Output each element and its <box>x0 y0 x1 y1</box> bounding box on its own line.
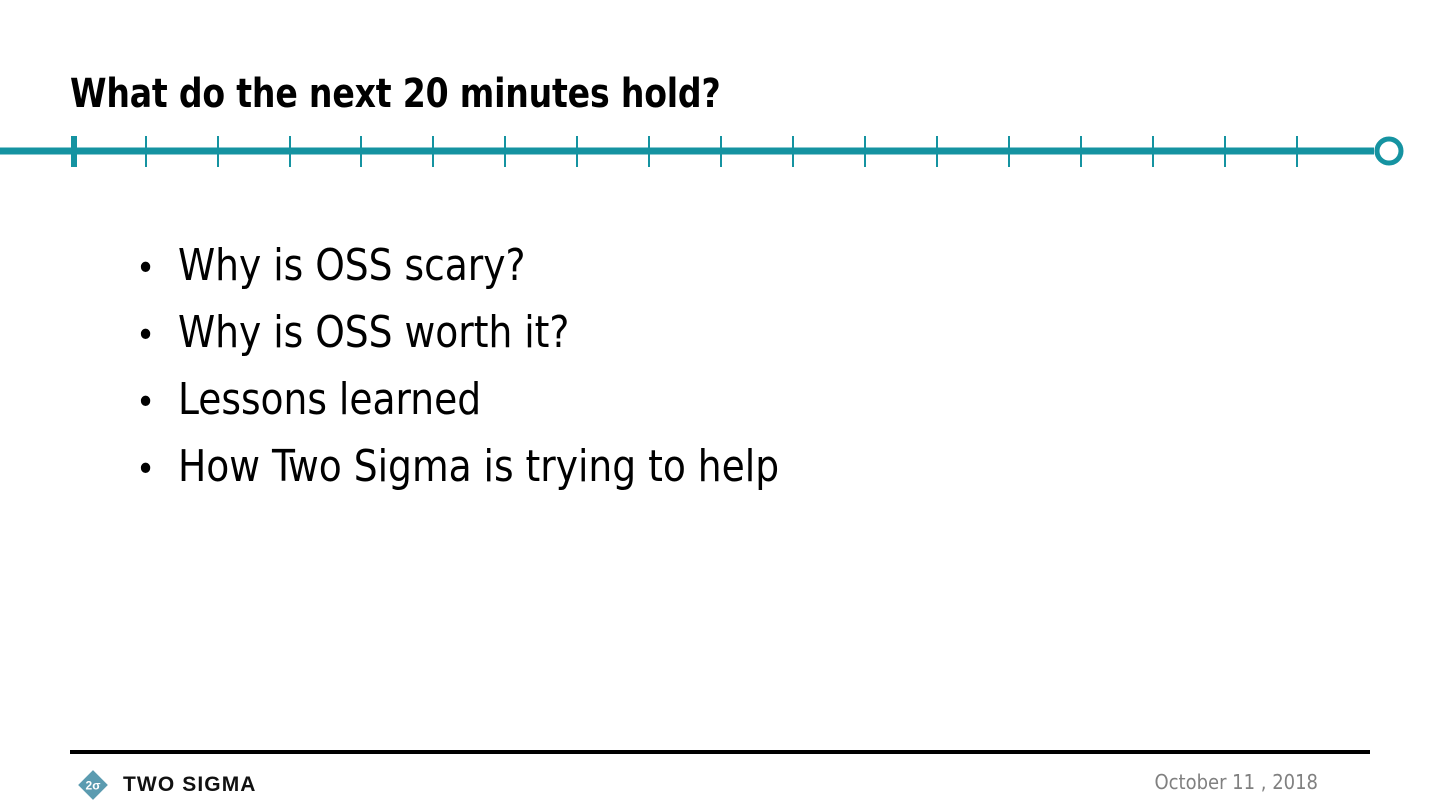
ruler-end-marker <box>1377 139 1401 163</box>
page-title: What do the next 20 minutes hold? <box>70 70 720 118</box>
bullet-text: Lessons learned <box>178 366 481 433</box>
bullet-marker-icon: • <box>130 369 178 436</box>
slide-footer: 2σ TWO SIGMA October 11 , 2018 <box>0 758 1440 810</box>
bullet-list: • Why is OSS scary? • Why is OSS worth i… <box>130 232 1280 500</box>
bullet-text: Why is OSS worth it? <box>178 299 569 366</box>
footer-divider <box>70 750 1370 754</box>
bullet-marker-icon: • <box>130 302 178 369</box>
list-item: • Lessons learned <box>130 366 1280 433</box>
list-item: • How Two Sigma is trying to help <box>130 433 1280 500</box>
bullet-text: Why is OSS scary? <box>178 232 525 299</box>
brand-lockup: 2σ TWO SIGMA <box>74 766 257 804</box>
two-sigma-diamond-logo-icon: 2σ <box>74 766 112 804</box>
svg-text:2σ: 2σ <box>86 779 101 793</box>
footer-date: October 11 , 2018 <box>1154 768 1318 796</box>
bullet-marker-icon: • <box>130 235 178 302</box>
list-item: • Why is OSS worth it? <box>130 299 1280 366</box>
progress-ruler <box>0 125 1440 180</box>
list-item: • Why is OSS scary? <box>130 232 1280 299</box>
bullet-marker-icon: • <box>130 436 178 503</box>
bullet-text: How Two Sigma is trying to help <box>178 433 779 500</box>
brand-wordmark: TWO SIGMA <box>123 766 257 804</box>
slide-canvas: What do the next 20 minutes hold? • Why … <box>0 0 1440 810</box>
progress-ruler-graphic <box>0 125 1440 180</box>
